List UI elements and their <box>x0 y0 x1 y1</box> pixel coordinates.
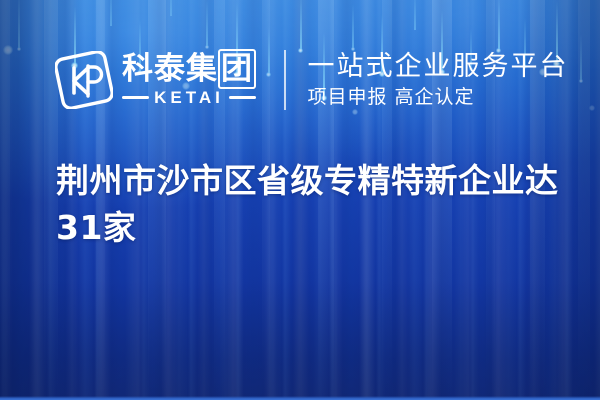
logo-company-name-en-row: KETAI <box>122 89 256 106</box>
bottom-edge-highlight <box>0 396 600 400</box>
logo-company-name-en: KETAI <box>154 89 224 106</box>
banner-header: 科泰集团 KETAI 一站式企业服务平台 项目申报 高企认定 <box>0 40 600 120</box>
promo-banner: 科泰集团 KETAI 一站式企业服务平台 项目申报 高企认定 荆州市沙市区省级专… <box>0 0 600 400</box>
logo-company-name-cn: 科泰集团 <box>122 54 256 85</box>
tagline-secondary: 项目申报 高企认定 <box>308 87 569 108</box>
logo-wordmark: 科泰集团 KETAI <box>122 54 256 106</box>
header-divider <box>284 50 286 110</box>
company-logo[interactable]: 科泰集团 KETAI <box>55 51 256 109</box>
logo-company-name-cn-plain: 科泰集 <box>122 51 218 87</box>
tagline-block: 一站式企业服务平台 项目申报 高企认定 <box>308 52 569 108</box>
tagline-primary: 一站式企业服务平台 <box>308 52 569 82</box>
logo-company-name-cn-boxed: 团 <box>218 49 256 89</box>
logo-rule-right <box>229 96 256 99</box>
page-title: 荆州市沙市区省级专精特新企业达31家 <box>56 158 572 252</box>
ketai-kp-monogram-icon <box>55 51 113 109</box>
logo-rule-left <box>122 96 149 99</box>
